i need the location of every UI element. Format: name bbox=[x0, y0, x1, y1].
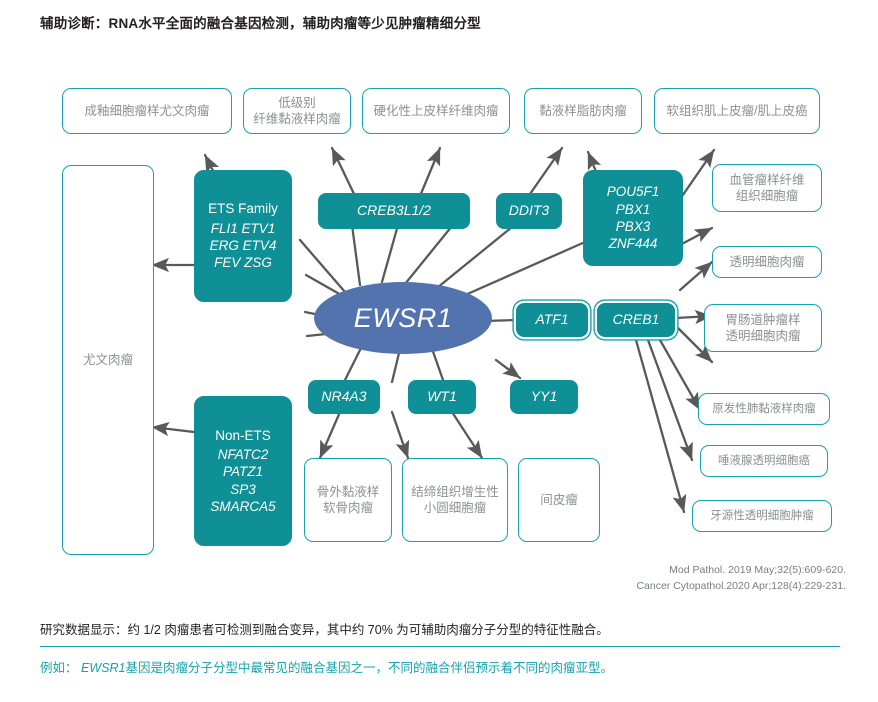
footer-stat-line: 研究数据显示：约 1/2 肉瘤患者可检测到融合变异，其中约 70% 为可辅助肉瘤… bbox=[40, 615, 840, 647]
outcome-odontogenic-clear-cell-tumor: 牙源性透明细胞肿瘤 bbox=[692, 500, 832, 532]
gene-group-ets-family[interactable]: ETS Family FLI1 ETV1 ERG ETV4 FEV ZSG bbox=[194, 170, 292, 302]
outcome-salivary-clear-cell-carcinoma: 唾液腺透明细胞癌 bbox=[700, 445, 828, 477]
page-title: 辅助诊断：RNA水平全面的融合基因检测，辅助肉瘤等少见肿瘤精细分型 bbox=[40, 12, 481, 32]
outcome-ewing-sarcoma: 尤文肉瘤 bbox=[62, 165, 154, 555]
outcome-line-1: 结缔组织增生性 bbox=[411, 484, 499, 500]
outcome-myxoid-liposarcoma: 黏液样脂肪肉瘤 bbox=[524, 88, 642, 134]
gene-row: FEV ZSG bbox=[214, 254, 272, 271]
outcome-line-1: 低级别 bbox=[278, 95, 316, 111]
gene-row: NFATC2 bbox=[218, 446, 269, 463]
gene-creb3l1-2[interactable]: CREB3L1/2 bbox=[318, 193, 470, 229]
gene-creb1[interactable]: CREB1 bbox=[597, 303, 675, 337]
hub-ewsr1[interactable]: EWSR1 bbox=[314, 282, 492, 354]
outcome-primary-pulmonary-myxoid-sarcoma: 原发性肺黏液样肉瘤 bbox=[698, 393, 830, 425]
outcome-line-2: 纤维黏液样肉瘤 bbox=[253, 111, 341, 127]
gene-atf1[interactable]: ATF1 bbox=[516, 303, 588, 337]
outcome-sclerosing-epithelioid-fibrosarcoma: 硬化性上皮样纤维肉瘤 bbox=[362, 88, 510, 134]
gene-row: PBX3 bbox=[616, 218, 651, 235]
outcome-clear-cell-sarcoma: 透明细胞肉瘤 bbox=[712, 246, 822, 278]
gene-wt1[interactable]: WT1 bbox=[408, 380, 476, 414]
gene-group-heading: ETS Family bbox=[208, 200, 278, 217]
footer-example-line: 例如： EWSR1基因是肉瘤分子分型中最常见的融合基因之一，不同的融合伴侣预示着… bbox=[40, 647, 840, 684]
gene-row: PBX1 bbox=[616, 201, 651, 218]
gene-row: ERG ETV4 bbox=[210, 237, 277, 254]
footer-example-rest: 基因是肉瘤分子分型中最常见的融合基因之一，不同的融合伴侣预示着不同的肉瘤亚型。 bbox=[125, 661, 613, 675]
gene-ddit3[interactable]: DDIT3 bbox=[496, 193, 562, 229]
outcome-extraskeletal-myxoid-chondrosarcoma: 骨外黏液样 软骨肉瘤 bbox=[304, 458, 392, 542]
page-root: 辅助诊断：RNA水平全面的融合基因检测，辅助肉瘤等少见肿瘤精细分型 bbox=[0, 0, 878, 702]
gene-row: FLI1 ETV1 bbox=[211, 220, 276, 237]
footer-example-prefix: 例如： bbox=[40, 661, 78, 675]
outcome-line-2: 透明细胞肉瘤 bbox=[725, 328, 800, 344]
outcome-line-1: 血管瘤样纤维 bbox=[729, 172, 804, 188]
footer: 研究数据显示：约 1/2 肉瘤患者可检测到融合变异，其中约 70% 为可辅助肉瘤… bbox=[40, 615, 840, 684]
citation-block: Mod Pathol. 2019 May;32(5):609-620. Canc… bbox=[636, 562, 846, 595]
gene-row: POU5F1 bbox=[607, 183, 660, 200]
gene-group-heading: Non-ETS bbox=[215, 427, 271, 444]
outcome-line-1: 胃肠道肿瘤样 bbox=[725, 312, 800, 328]
outcome-low-grade-fibromyxoid: 低级别 纤维黏液样肉瘤 bbox=[243, 88, 351, 134]
citation-line: Cancer Cytopathol.2020 Apr;128(4):229-23… bbox=[636, 578, 846, 594]
outcome-gi-clear-cell-sarcoma: 胃肠道肿瘤样 透明细胞肉瘤 bbox=[704, 304, 822, 352]
outcome-line-2: 小圆细胞瘤 bbox=[424, 500, 487, 516]
gene-row: SMARCA5 bbox=[210, 498, 275, 515]
outcome-ameloblastoma-like-ewing: 成釉细胞瘤样尤文肉瘤 bbox=[62, 88, 232, 134]
outcome-mesothelioma: 间皮瘤 bbox=[518, 458, 600, 542]
gene-row: PATZ1 bbox=[223, 463, 263, 480]
citation-line: Mod Pathol. 2019 May;32(5):609-620. bbox=[636, 562, 846, 578]
gene-group-pou5f1[interactable]: POU5F1 PBX1 PBX3 ZNF444 bbox=[583, 170, 683, 266]
gene-row: SP3 bbox=[230, 481, 256, 498]
footer-example-gene: EWSR1 bbox=[81, 661, 125, 675]
gene-group-non-ets[interactable]: Non-ETS NFATC2 PATZ1 SP3 SMARCA5 bbox=[194, 396, 292, 546]
gene-yy1[interactable]: YY1 bbox=[510, 380, 578, 414]
outcome-line-1: 骨外黏液样 bbox=[317, 484, 380, 500]
outcome-line-2: 组织细胞瘤 bbox=[736, 188, 799, 204]
gene-nr4a3[interactable]: NR4A3 bbox=[308, 380, 380, 414]
outcome-line-2: 软骨肉瘤 bbox=[323, 500, 373, 516]
outcome-soft-tissue-myoepithelioma: 软组织肌上皮瘤/肌上皮癌 bbox=[654, 88, 820, 134]
diagram-canvas: 尤文肉瘤 成釉细胞瘤样尤文肉瘤 低级别 纤维黏液样肉瘤 硬化性上皮样纤维肉瘤 黏… bbox=[0, 60, 878, 560]
outcome-desmoplastic-small-round-cell: 结缔组织增生性 小圆细胞瘤 bbox=[402, 458, 508, 542]
outcome-angiomatoid-fibrous-histiocytoma: 血管瘤样纤维 组织细胞瘤 bbox=[712, 164, 822, 212]
gene-row: ZNF444 bbox=[609, 235, 658, 252]
